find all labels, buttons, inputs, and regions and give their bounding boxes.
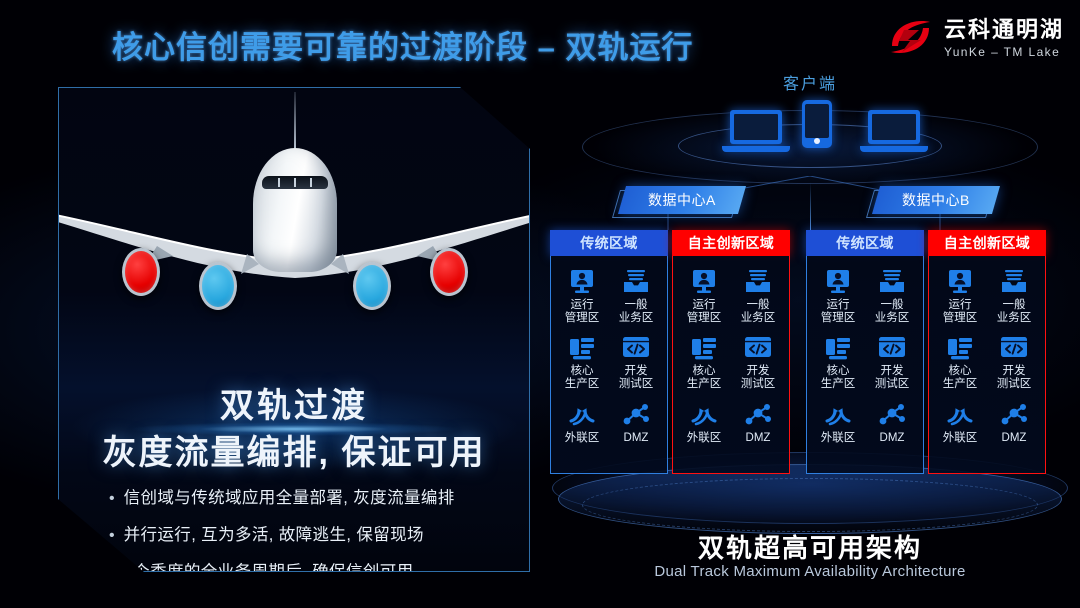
zone-label: 外联区 <box>821 432 856 445</box>
zone-column-innovation-a[interactable]: 自主创新区域运行管理区一般业务区核心生产区开发测试区外联区DMZ <box>672 230 790 474</box>
client-tier-label: 客户端 <box>540 70 1080 94</box>
zone-label: 开发测试区 <box>619 365 654 391</box>
zone-label: 核心生产区 <box>943 365 978 391</box>
zone-label: DMZ <box>746 432 771 445</box>
slide-root: 核心信创需要可靠的过渡阶段 – 双轨运行 云科通明湖 YunKe – TM La… <box>0 0 1080 608</box>
zone-cell[interactable]: 核心生产区 <box>811 334 865 400</box>
zone-label: 核心生产区 <box>821 365 856 391</box>
zone-column-innovation-b[interactable]: 自主创新区域运行管理区一般业务区核心生产区开发测试区外联区DMZ <box>928 230 1046 474</box>
zone-label: DMZ <box>624 432 649 445</box>
zone-label: DMZ <box>880 432 905 445</box>
zone-cell[interactable]: 外联区 <box>555 401 609 467</box>
cockpit-window <box>262 176 328 189</box>
zone-cell[interactable]: 一般业务区 <box>731 268 785 334</box>
left-feature-panel: 双轨过渡 灰度流量编排, 保证可用 • 信创域与传统域应用全量部署, 灰度流量编… <box>58 87 530 572</box>
zone-cell[interactable]: DMZ <box>609 401 663 467</box>
zone-grid: 运行管理区一般业务区核心生产区开发测试区外联区DMZ <box>806 256 924 474</box>
bullet-marker-icon: • <box>109 562 115 572</box>
zone-cell[interactable]: 运行管理区 <box>677 268 731 334</box>
zone-header-innovation[interactable]: 自主创新区域 <box>672 230 790 256</box>
code-window-icon <box>1000 334 1028 362</box>
datacenter-banner-b[interactable]: 数据中心B <box>872 186 1000 214</box>
smartphone-icon <box>802 100 832 148</box>
engine-inner-left-cyan <box>199 262 237 310</box>
inbox-docs-icon <box>622 268 650 296</box>
zone-label: 运行管理区 <box>565 299 600 325</box>
crossing-arrows-icon <box>946 401 974 429</box>
zone-cell[interactable]: DMZ <box>987 401 1041 467</box>
code-window-icon <box>744 334 772 362</box>
user-monitor-icon <box>824 268 852 296</box>
server-stack-icon <box>946 334 974 362</box>
zone-cell[interactable]: 开发测试区 <box>865 334 919 400</box>
bullet-text: 并行运行, 互为多活, 故障逃生, 保留现场 <box>124 525 424 546</box>
user-monitor-icon <box>946 268 974 296</box>
zone-cell[interactable]: 运行管理区 <box>933 268 987 334</box>
zone-cell[interactable]: 核心生产区 <box>933 334 987 400</box>
zone-label: 核心生产区 <box>565 365 600 391</box>
zone-label: 运行管理区 <box>687 299 722 325</box>
list-item: • 信创域与传统域应用全量部署, 灰度流量编排 <box>109 488 509 509</box>
zone-cell[interactable]: 一般业务区 <box>865 268 919 334</box>
engine-outer-right-red <box>430 248 468 296</box>
list-item: • 4个季度的全业务周期后, 确保信创可用 <box>109 562 509 572</box>
zone-label: 外联区 <box>943 432 978 445</box>
list-item: • 并行运行, 互为多活, 故障逃生, 保留现场 <box>109 525 509 546</box>
zone-column-traditional-a[interactable]: 传统区域运行管理区一般业务区核心生产区开发测试区外联区DMZ <box>550 230 668 474</box>
zone-cell[interactable]: 一般业务区 <box>609 268 663 334</box>
engine-outer-left-red <box>122 248 160 296</box>
zone-cell[interactable]: 一般业务区 <box>987 268 1041 334</box>
zone-cell[interactable]: 运行管理区 <box>811 268 865 334</box>
zone-cell[interactable]: 外联区 <box>677 401 731 467</box>
zone-header-traditional[interactable]: 传统区域 <box>550 230 668 256</box>
code-window-icon <box>878 334 906 362</box>
zone-label: DMZ <box>1002 432 1027 445</box>
airliner-image <box>59 140 530 350</box>
bullet-text: 信创域与传统域应用全量部署, 灰度流量编排 <box>124 488 455 509</box>
base-ellipse-inner <box>582 478 1038 532</box>
crossing-arrows-icon <box>824 401 852 429</box>
zone-label: 外联区 <box>687 432 722 445</box>
zone-cell[interactable]: 开发测试区 <box>987 334 1041 400</box>
zone-cell[interactable]: 核心生产区 <box>677 334 731 400</box>
zone-grid: 运行管理区一般业务区核心生产区开发测试区外联区DMZ <box>928 256 1046 474</box>
zone-header-innovation[interactable]: 自主创新区域 <box>928 230 1046 256</box>
laptop-icon <box>868 110 928 152</box>
laptop-icon <box>730 110 790 152</box>
inbox-docs-icon <box>744 268 772 296</box>
zone-grid: 运行管理区一般业务区核心生产区开发测试区外联区DMZ <box>672 256 790 474</box>
crossing-arrows-icon <box>568 401 596 429</box>
crossing-arrows-icon <box>690 401 718 429</box>
zone-cell[interactable]: DMZ <box>731 401 785 467</box>
footer-title-en: Dual Track Maximum Availability Architec… <box>540 563 1080 580</box>
zone-cell[interactable]: 开发测试区 <box>609 334 663 400</box>
bullet-text: 4个季度的全业务周期后, 确保信创可用 <box>124 562 414 572</box>
user-monitor-icon <box>690 268 718 296</box>
network-nodes-icon <box>1000 401 1028 429</box>
footer-title-cn: 双轨超高可用架构 <box>540 528 1080 565</box>
panel-heading-secondary: 灰度流量编排, 保证可用 <box>59 425 529 474</box>
bullet-list: • 信创域与传统域应用全量部署, 灰度流量编排 • 并行运行, 互为多活, 故障… <box>109 488 509 572</box>
zone-header-traditional[interactable]: 传统区域 <box>806 230 924 256</box>
network-nodes-icon <box>622 401 650 429</box>
server-stack-icon <box>690 334 718 362</box>
zone-column-traditional-b[interactable]: 传统区域运行管理区一般业务区核心生产区开发测试区外联区DMZ <box>806 230 924 474</box>
zone-cell[interactable]: 外联区 <box>811 401 865 467</box>
zone-cell[interactable]: 运行管理区 <box>555 268 609 334</box>
zone-label: 开发测试区 <box>875 365 910 391</box>
inbox-docs-icon <box>878 268 906 296</box>
client-platform <box>560 96 1060 176</box>
zone-label: 开发测试区 <box>997 365 1032 391</box>
zone-label: 一般业务区 <box>875 299 910 325</box>
bullet-marker-icon: • <box>109 525 115 546</box>
zone-label: 运行管理区 <box>943 299 978 325</box>
zone-label: 一般业务区 <box>619 299 654 325</box>
zone-cell[interactable]: DMZ <box>865 401 919 467</box>
user-monitor-icon <box>568 268 596 296</box>
inbox-docs-icon <box>1000 268 1028 296</box>
bullet-marker-icon: • <box>109 488 115 509</box>
code-window-icon <box>622 334 650 362</box>
architecture-diagram: 客户端 数据中心A 数据中心B <box>540 0 1080 608</box>
zone-grid: 运行管理区一般业务区核心生产区开发测试区外联区DMZ <box>550 256 668 474</box>
network-nodes-icon <box>744 401 772 429</box>
datacenter-banner-a[interactable]: 数据中心A <box>618 186 746 214</box>
server-stack-icon <box>568 334 596 362</box>
engine-inner-right-cyan <box>353 262 391 310</box>
zone-label: 核心生产区 <box>687 365 722 391</box>
panel-heading-primary: 双轨过渡 <box>59 378 529 427</box>
zone-label: 外联区 <box>565 432 600 445</box>
server-stack-icon <box>824 334 852 362</box>
tail-fin <box>294 92 296 154</box>
zone-label: 一般业务区 <box>997 299 1032 325</box>
zone-label: 一般业务区 <box>741 299 776 325</box>
fuselage <box>253 148 337 272</box>
zone-label: 运行管理区 <box>821 299 856 325</box>
network-nodes-icon <box>878 401 906 429</box>
zone-cell[interactable]: 核心生产区 <box>555 334 609 400</box>
zone-cell[interactable]: 开发测试区 <box>731 334 785 400</box>
zone-label: 开发测试区 <box>741 365 776 391</box>
zone-cell[interactable]: 外联区 <box>933 401 987 467</box>
